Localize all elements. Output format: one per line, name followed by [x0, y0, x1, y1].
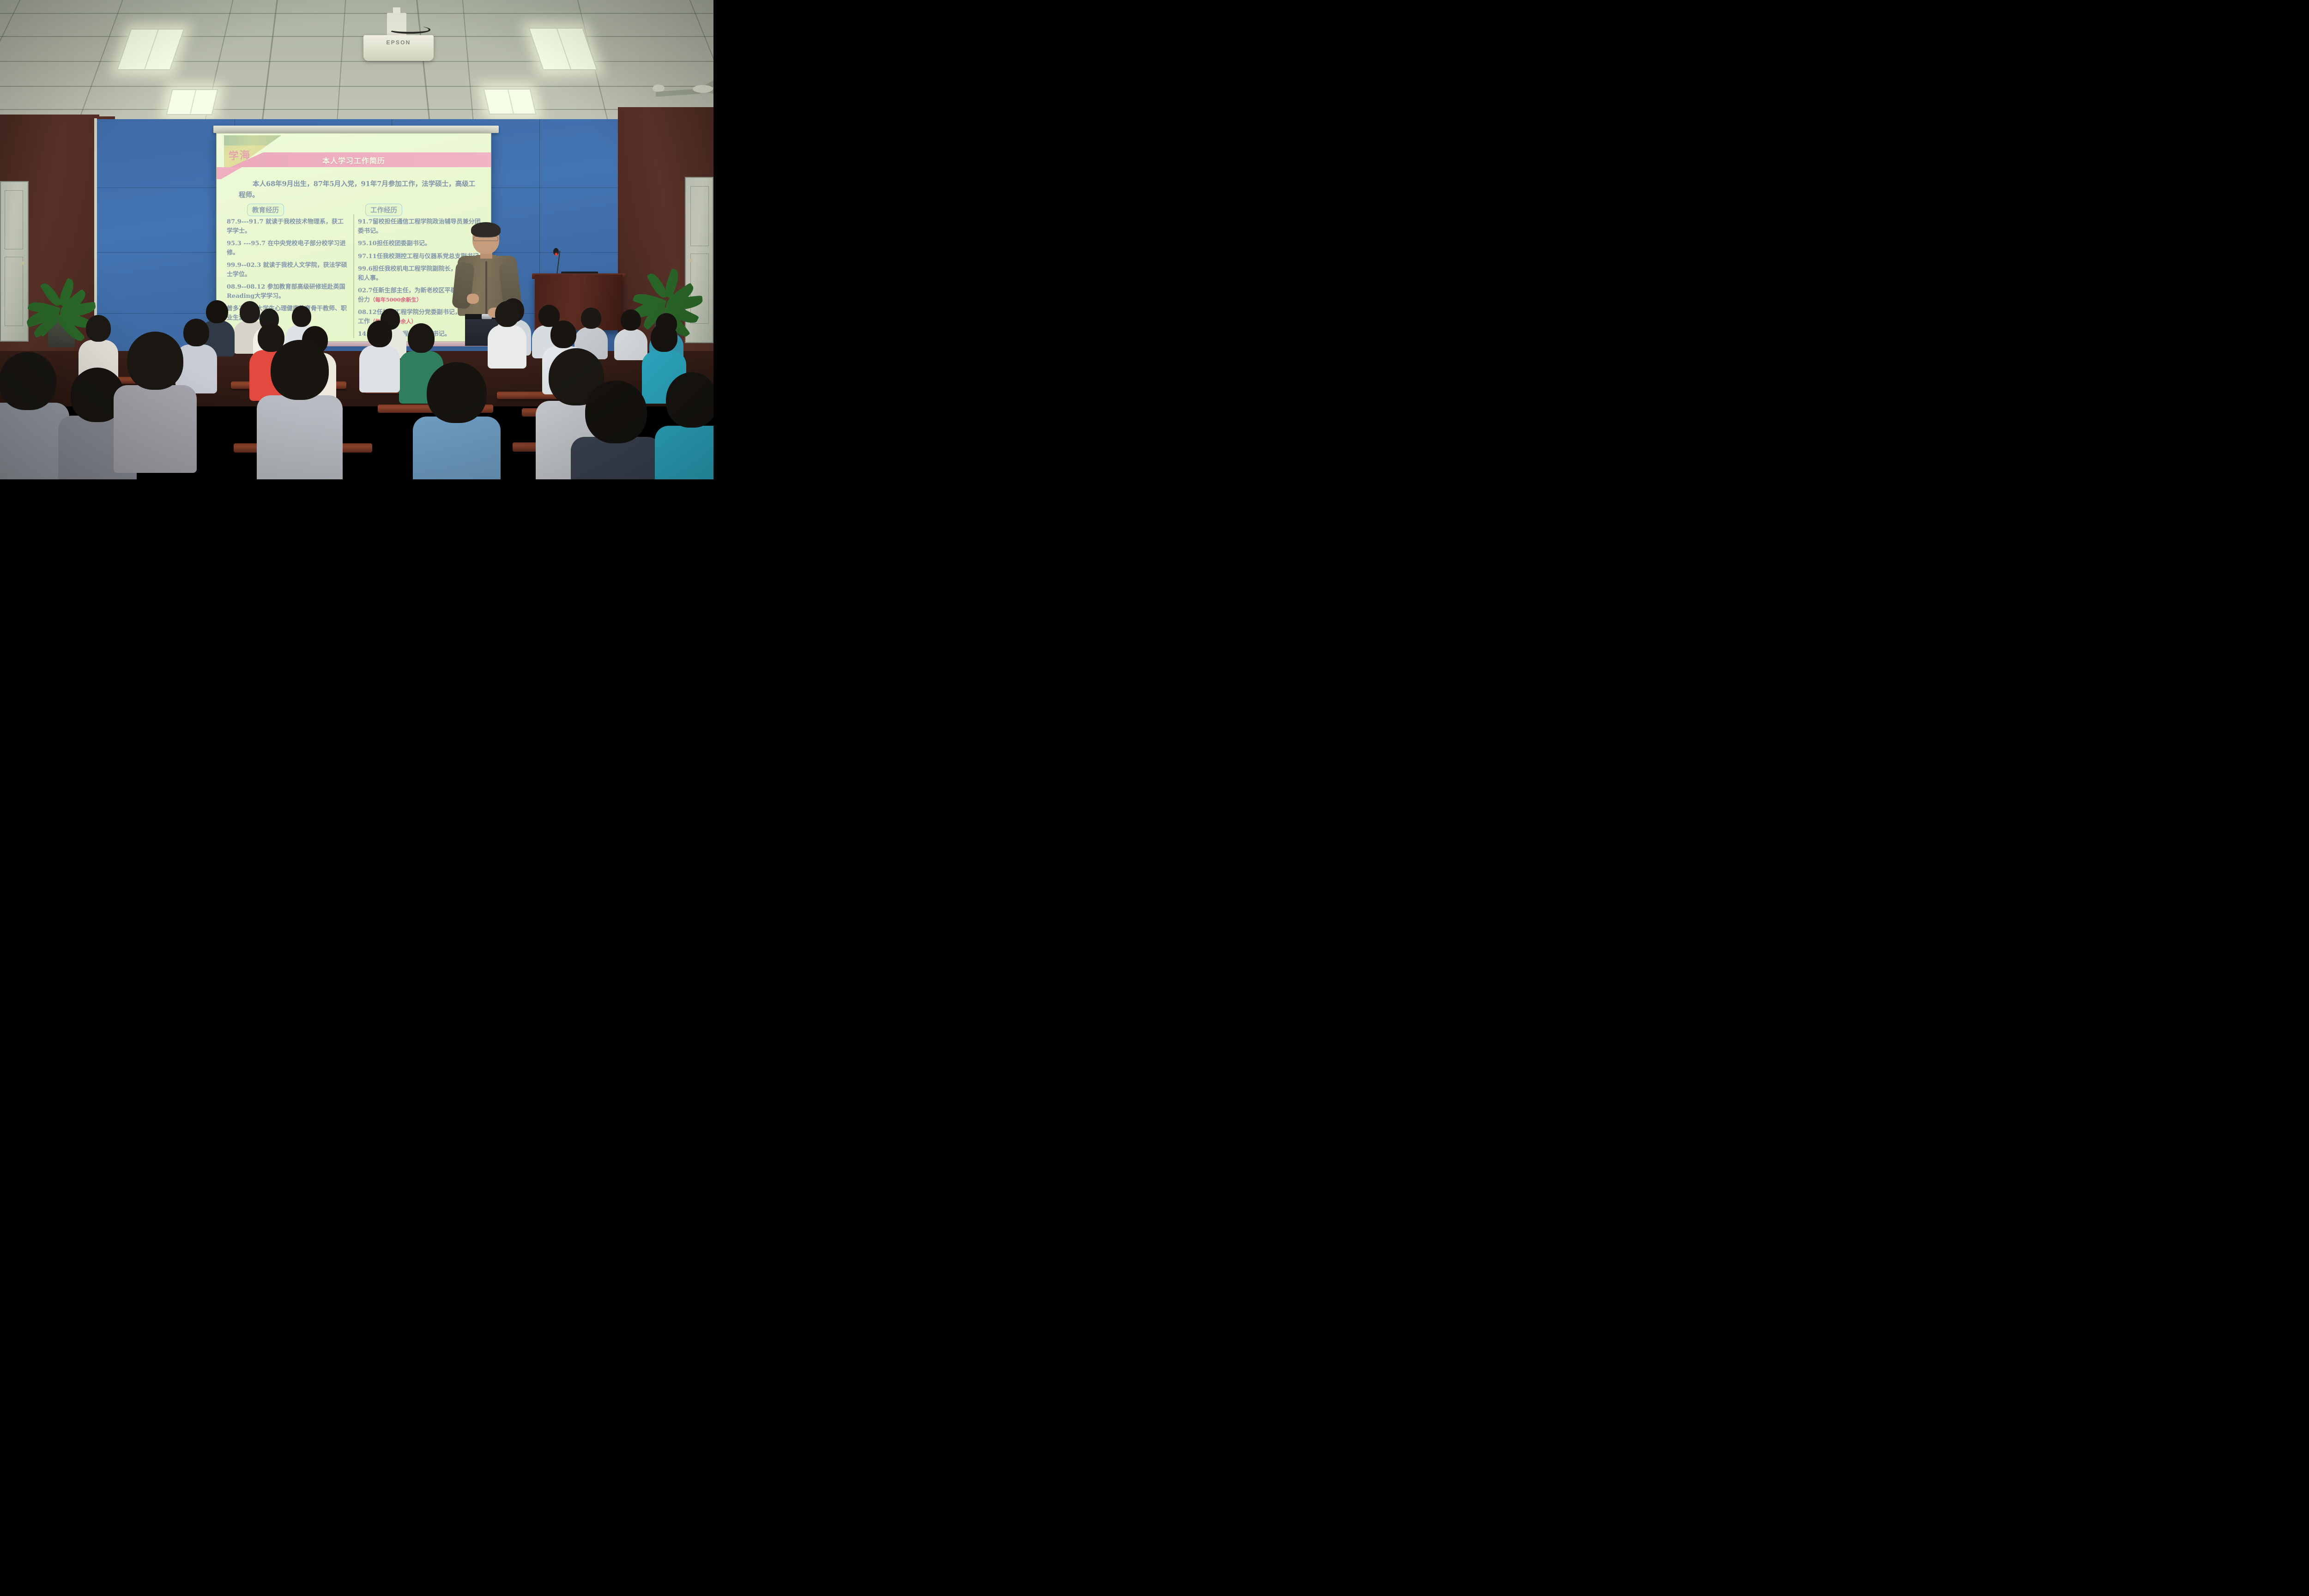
projector: EPSON	[363, 35, 434, 61]
projector-brand-label: EPSON	[363, 39, 434, 46]
ceiling-light-panel	[117, 29, 185, 70]
ceiling	[0, 0, 713, 127]
slide-column-divider	[353, 214, 354, 338]
audience-member	[114, 332, 197, 470]
ceiling-light-panel	[484, 89, 537, 115]
slide-section-header-education: 教育经历	[247, 204, 284, 216]
education-entry: 95.3 ---95.7 在中央党校电子部分校学习进修。	[227, 239, 348, 257]
education-entry: 08.9--08.12 参加教育部高级研修班赴英国Reading大学学习。	[227, 283, 348, 301]
microphone-led-indicator	[555, 253, 557, 255]
audience-member	[257, 340, 343, 479]
ceiling-light-panel	[166, 89, 218, 115]
lecture-hall-photo: EPSON 学海 本人学习工作简历 本人68年9	[0, 0, 713, 479]
ceiling-light-panel	[528, 28, 598, 70]
audience-member	[655, 372, 713, 479]
slide-title: 本人学习工作简历	[217, 155, 491, 166]
slide-section-header-work: 工作经历	[365, 204, 402, 216]
audience-member	[413, 362, 501, 479]
presenter-hair	[471, 222, 501, 237]
slide-annotation: （每年5000余新生）	[370, 296, 422, 303]
screen-housing	[213, 126, 499, 133]
presenter-left-hand	[467, 294, 479, 304]
slide-intro-paragraph: 本人68年9月出生，87年5月入党，91年7月参加工作，法学硕士，高级工程师。	[239, 179, 478, 201]
presenter-shirt-placket	[485, 261, 487, 315]
education-entry: 99.9--02.3 就读于我校人文学院，获法学硕士学位。	[227, 261, 348, 279]
projector-cable	[389, 26, 430, 34]
audience-member	[571, 381, 661, 479]
audience-member	[488, 301, 526, 366]
slide-accent-band	[217, 167, 260, 179]
audience-member	[359, 320, 400, 391]
education-entry: 87.9---91.7 就读于我校技术物理系，获工学学士。	[227, 218, 348, 236]
glasses-icon	[473, 236, 498, 241]
